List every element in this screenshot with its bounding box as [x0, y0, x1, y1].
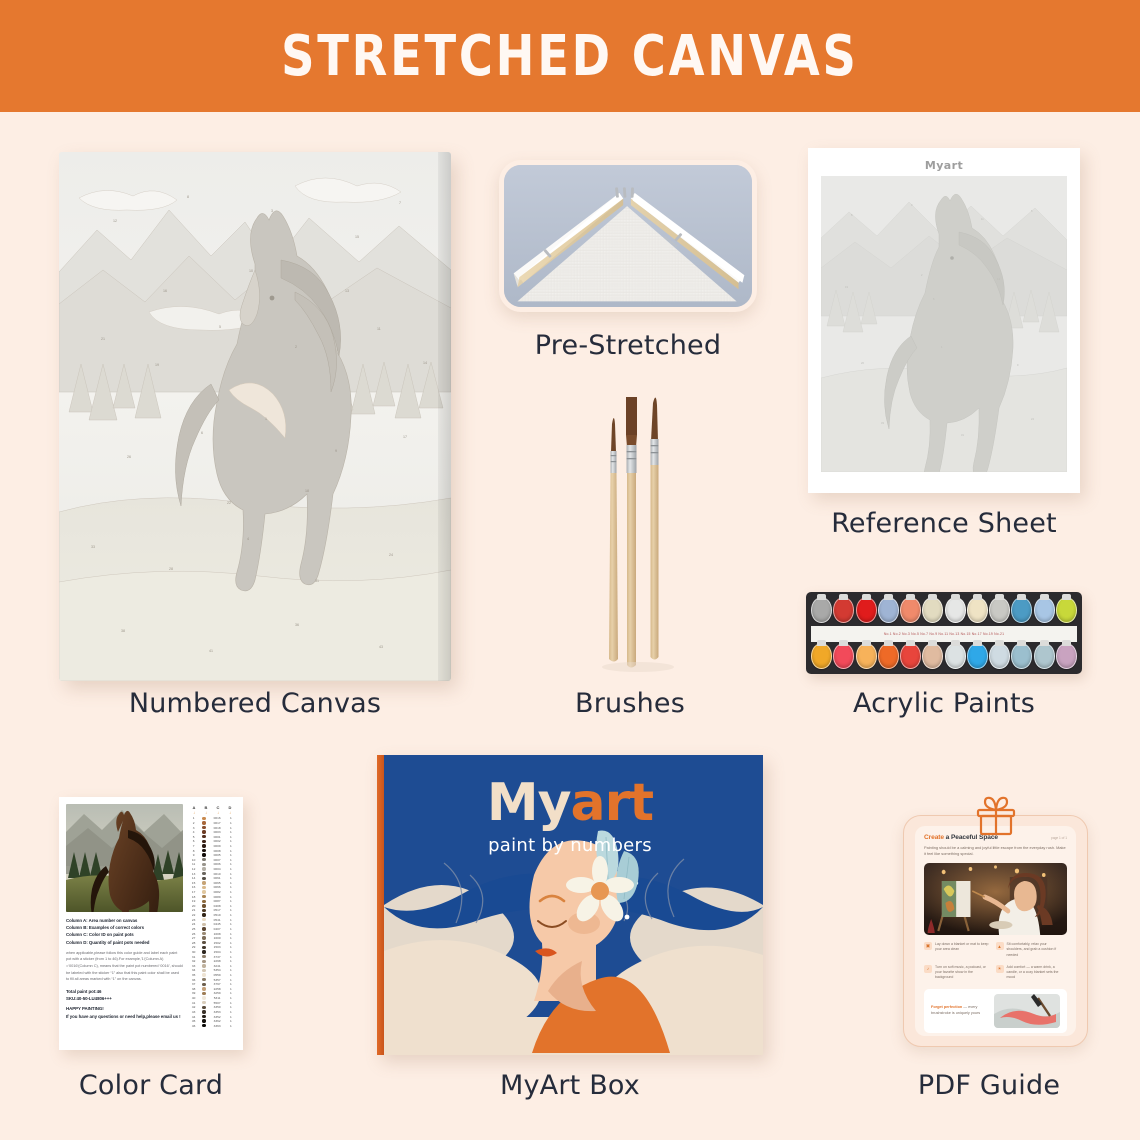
swatch-row: 100161 [188, 816, 236, 821]
swatch-area-number: 7 [190, 844, 197, 848]
pdf-tip-text: Add comfort — a warm drink, a candle, or… [1007, 965, 1064, 981]
svg-text:26: 26 [127, 455, 131, 459]
swatch-quantity: 1 [228, 941, 234, 945]
swatch-color-cell [201, 849, 206, 852]
swatch-quantity: 1 [228, 936, 234, 940]
swatch-color-cell [201, 840, 206, 843]
swatch-color-dot [202, 987, 205, 990]
swatch-color-id: 0061 [211, 876, 224, 880]
swatch-area-number: 2 [190, 821, 197, 825]
swatch-area-number: 5 [190, 835, 197, 839]
swatch-quantity: 1 [228, 945, 234, 949]
color-card-swatch-table: A B C D ↓ ↓ ↓ ↓ 100161200171300181400031… [188, 804, 236, 1044]
swatch-color-id: 0001 [211, 835, 224, 839]
swatch-color-dot [202, 844, 205, 847]
paint-pot [900, 643, 921, 669]
logo-my: My [487, 773, 571, 833]
swatch-quantity: 1 [228, 849, 234, 853]
pdf-intro-text: Painting should be a calming and joyful … [924, 845, 1067, 857]
box-tagline: paint by numbers [377, 835, 763, 856]
swatch-quantity: 1 [228, 908, 234, 912]
swatch-row: 4053111 [188, 996, 236, 1001]
swatch-color-dot [202, 1006, 205, 1009]
pdf-heading-accent: Create [924, 834, 944, 841]
swatch-area-number: 20 [190, 904, 197, 908]
swatch-area-number: 16 [190, 885, 197, 889]
swatch-color-dot [202, 960, 205, 963]
swatch-quantity: 1 [228, 1005, 234, 1009]
arrow-down-icon: ↓ [205, 810, 207, 815]
swatch-color-cell [201, 1001, 206, 1004]
swatch-color-id: 0008 [211, 849, 224, 853]
swatch-color-cell [201, 1019, 206, 1022]
swatch-area-number: 28 [190, 941, 197, 945]
swatch-quantity: 1 [228, 1024, 234, 1028]
swatch-quantity: 1 [228, 964, 234, 968]
sku-code: SKU:40-50-LU4806+++ [66, 995, 183, 1002]
swatch-color-dot [202, 936, 205, 939]
svg-text:11: 11 [377, 327, 381, 331]
page-header: STRETCHED CANVAS [0, 0, 1140, 112]
swatch-color-dot [202, 946, 205, 949]
swatch-color-id: 3737 [211, 955, 224, 959]
swatch-row: 300181 [188, 825, 236, 830]
swatch-area-number: 35 [190, 973, 197, 977]
swatch-area-number: 31 [190, 955, 197, 959]
paint-pot [811, 643, 832, 669]
swatch-color-id: 0016 [211, 816, 224, 820]
svg-text:14: 14 [423, 361, 427, 365]
swatch-color-cell [201, 955, 206, 958]
arrow-down-icon: ↓ [193, 810, 195, 815]
paint-pot [989, 597, 1010, 623]
swatch-color-cell [201, 946, 206, 949]
swatch-quantity: 1 [228, 885, 234, 889]
swatch-row: 3737971 [188, 982, 236, 987]
svg-text:1: 1 [265, 417, 267, 421]
swatch-color-dot [202, 1015, 205, 1018]
swatch-row: 4633631 [188, 1023, 236, 1028]
swatch-row: 2305411 [188, 917, 236, 922]
swatch-color-id: 1600 [211, 936, 224, 940]
legend-column-d: Column D: Quantity of paint pots needed [66, 939, 183, 946]
swatch-quantity: 1 [228, 844, 234, 848]
swatch-area-number: 11 [190, 862, 197, 866]
paint-pot [1034, 643, 1055, 669]
svg-text:24: 24 [389, 553, 393, 557]
music-note-icon: ♪ [924, 965, 932, 973]
swatch-area-number: 15 [190, 881, 197, 885]
swatch-row: 4333531 [188, 1010, 236, 1015]
swatch-color-dot [202, 978, 205, 981]
swatch-area-number: 24 [190, 922, 197, 926]
swatch-color-cell [201, 821, 206, 824]
swatch-quantity: 1 [228, 913, 234, 917]
swatch-color-cell [201, 900, 206, 903]
swatch-color-cell [201, 923, 206, 926]
swatch-color-id: 0007 [211, 858, 224, 862]
swatch-quantity: 1 [228, 899, 234, 903]
swatch-row: 1800891 [188, 894, 236, 899]
swatch-color-cell [201, 835, 206, 838]
swatch-area-number: 1 [190, 816, 197, 820]
box-logo-wordmark: Myart [377, 773, 763, 833]
swatch-color-cell [201, 1024, 206, 1027]
swatch-color-id: 0017 [211, 821, 224, 825]
swatch-color-dot [202, 890, 205, 893]
swatch-color-cell [201, 1010, 206, 1013]
swatch-color-id: 5357 [211, 978, 224, 982]
arrow-down-icon: ↓ [229, 810, 231, 815]
swatch-color-id: 3241 [211, 964, 224, 968]
swatch-area-number: 38 [190, 987, 197, 991]
svg-text:4: 4 [247, 537, 249, 541]
swatch-color-dot [202, 969, 205, 972]
swatch-color-cell [201, 867, 206, 870]
swatch-row: 1700821 [188, 890, 236, 895]
caption-numbered-canvas: Numbered Canvas [59, 688, 451, 719]
swatch-area-number: 22 [190, 913, 197, 917]
swatch-table-arrows: ↓ ↓ ↓ ↓ [188, 810, 236, 815]
swatch-color-dot [202, 821, 205, 824]
swatch-quantity: 1 [228, 982, 234, 986]
swatch-row: 1400611 [188, 876, 236, 881]
swatch-quantity: 1 [228, 862, 234, 866]
pdf-note-text: Forget perfection — every brushstroke is… [931, 1005, 988, 1016]
swatch-area-number: 13 [190, 872, 197, 876]
svg-text:7: 7 [399, 201, 401, 205]
svg-text:41: 41 [209, 649, 213, 653]
swatch-area-number: 4 [190, 830, 197, 834]
swatch-quantity: 1 [228, 876, 234, 880]
swatch-area-number: 33 [190, 964, 197, 968]
paint-pot [1011, 597, 1032, 623]
swatch-area-number: 37 [190, 982, 197, 986]
pdf-page-marker: page 1 of 1 [1051, 836, 1067, 840]
swatch-row: 1900871 [188, 899, 236, 904]
swatch-color-dot [202, 881, 205, 884]
paint-row-top [811, 597, 1077, 625]
swatch-color-dot [202, 904, 205, 907]
brushstroke-photo [994, 994, 1060, 1028]
swatch-color-id: 5354 [211, 968, 224, 972]
swatch-quantity: 1 [228, 890, 234, 894]
swatch-color-dot [202, 918, 205, 921]
gift-box-glyph [973, 796, 1019, 836]
swatch-color-cell [201, 890, 206, 893]
swatch-row: 2915031 [188, 945, 236, 950]
swatch-quantity: 1 [228, 858, 234, 862]
swatch-area-number: 45 [190, 1019, 197, 1023]
swatch-area-number: 10 [190, 858, 197, 862]
acrylic-paints-image: No.1 No.2 No.3 No.5 No.7 No.9 No.11 No.1… [806, 592, 1082, 674]
brush-set [560, 385, 700, 675]
canvas-depth-edge [438, 152, 451, 681]
swatch-row: 1500651 [188, 881, 236, 886]
paint-pot [1056, 597, 1077, 623]
swatch-color-dot [202, 1019, 205, 1022]
swatch-area-number: 32 [190, 959, 197, 963]
swatch-color-cell [201, 886, 206, 889]
swatch-quantity: 1 [228, 922, 234, 926]
svg-text:31: 31 [315, 579, 319, 583]
swatch-color-cell [201, 830, 206, 833]
swatch-row: 2616081 [188, 931, 236, 936]
swatch-color-id: 0408 [211, 904, 224, 908]
swatch-color-cell [201, 863, 206, 866]
swatch-color-id: 0003 [211, 830, 224, 834]
swatch-row: 2205191 [188, 913, 236, 918]
swatch-color-id: 3363 [211, 1024, 224, 1028]
swatch-color-id: 3350 [211, 1005, 224, 1009]
paint-pot [967, 643, 988, 669]
swatch-color-id: 0087 [211, 899, 224, 903]
swatch-quantity: 1 [228, 881, 234, 885]
pre-stretched-image: stretched [499, 160, 757, 312]
swatch-row: 2404451 [188, 922, 236, 927]
svg-text:13: 13 [345, 289, 349, 293]
swatch-color-dot [202, 1001, 205, 1004]
svg-text:18: 18 [305, 489, 309, 493]
paint-pot [967, 597, 988, 623]
swatch-row: 400031 [188, 830, 236, 835]
color-card-left-column: Column A: Area number on canvas Column B… [66, 804, 183, 1044]
swatch-color-dot [202, 830, 205, 833]
paint-row-bottom [811, 643, 1077, 671]
swatch-color-cell [201, 950, 206, 953]
swatch-color-cell [201, 844, 206, 847]
paint-pot [878, 597, 899, 623]
svg-text:5: 5 [219, 325, 221, 329]
swatch-area-number: 42 [190, 1005, 197, 1009]
svg-text:10: 10 [249, 269, 253, 273]
swatch-color-cell [201, 987, 206, 990]
swatch-color-dot [202, 941, 205, 944]
paint-pot [945, 597, 966, 623]
svg-text:9: 9 [335, 449, 337, 453]
arrow-down-icon: ↓ [217, 810, 219, 815]
woman-painting-photo [924, 863, 1067, 935]
swatch-area-number: 34 [190, 968, 197, 972]
swatch-color-cell [201, 973, 206, 976]
swatch-color-dot [202, 950, 205, 953]
swatch-quantity: 1 [228, 959, 234, 963]
swatch-color-cell [201, 877, 206, 880]
swatch-color-dot [202, 853, 205, 856]
swatch-row-list: 1001612001713001814000315000116000217000… [188, 816, 236, 1028]
svg-text:22: 22 [227, 501, 231, 505]
swatch-color-id: 0066 [211, 885, 224, 889]
paint-pot [856, 597, 877, 623]
swatch-quantity: 1 [228, 853, 234, 857]
logo-art: art [571, 773, 654, 833]
swatch-color-cell [201, 826, 206, 829]
caption-brushes: Brushes [560, 688, 700, 719]
swatch-quantity: 1 [228, 895, 234, 899]
swatch-quantity: 1 [228, 816, 234, 820]
legend-column-a: Column A: Area number on canvas [66, 917, 183, 924]
swatch-color-dot [202, 992, 205, 995]
swatch-quantity: 1 [228, 835, 234, 839]
swatch-color-cell [201, 927, 206, 930]
caption-acrylic-paints: Acrylic Paints [806, 688, 1082, 719]
swatch-color-dot [202, 886, 205, 889]
paint-pot [811, 597, 832, 623]
swatch-color-dot [202, 973, 205, 976]
pdf-note-photo [994, 994, 1060, 1028]
swatch-area-number: 9 [190, 853, 197, 857]
pdf-tip-item: ♪ Turn on soft music, a podcast, or your… [924, 965, 996, 981]
swatch-color-dot [202, 835, 205, 838]
swatch-color-id: 0559 [211, 973, 224, 977]
swatch-quantity: 1 [228, 904, 234, 908]
swatch-color-id: 5311 [211, 996, 224, 1000]
swatch-color-cell [201, 992, 206, 995]
horse-photo [66, 804, 183, 912]
swatch-quantity: 1 [228, 932, 234, 936]
color-card-legend: Column A: Area number on canvas Column B… [66, 917, 183, 946]
swatch-color-cell [201, 1006, 206, 1009]
swatch-area-number: 19 [190, 899, 197, 903]
pdf-tip-text: Turn on soft music, a podcast, or your f… [935, 965, 992, 981]
swatch-row: 4533621 [188, 1019, 236, 1024]
swatch-color-id: 3352 [211, 1015, 224, 1019]
swatch-color-dot [202, 826, 205, 829]
swatch-color-cell [201, 858, 206, 861]
paint-pot [900, 597, 921, 623]
swatch-color-id: 1502 [211, 941, 224, 945]
swatch-color-dot [202, 1024, 205, 1027]
legend-column-b: Column B: Examples of correct colors [66, 924, 183, 931]
swatch-color-id: 0445 [211, 922, 224, 926]
swatch-color-dot [202, 927, 205, 930]
swatch-area-number: 3 [190, 826, 197, 830]
paint-pot [1034, 597, 1055, 623]
swatch-area-number: 12 [190, 867, 197, 871]
reference-sheet-logo: Myart [821, 159, 1067, 176]
brushes-image [560, 385, 700, 675]
swatch-color-id: 3362 [211, 1019, 224, 1023]
swatch-color-cell [201, 964, 206, 967]
swatch-color-id: 0002 [211, 839, 224, 843]
swatch-area-number: 46 [190, 1024, 197, 1028]
swatch-quantity: 1 [228, 872, 234, 876]
swatch-area-number: 27 [190, 936, 197, 940]
swatch-color-id: 0018 [211, 826, 224, 830]
swatch-row: 700091 [188, 844, 236, 849]
swatch-row: 2716001 [188, 936, 236, 941]
swatch-color-cell [201, 996, 206, 999]
swatch-row: 200171 [188, 821, 236, 826]
swatch-color-cell [201, 895, 206, 898]
contact-text: If you have any questions or need help,p… [66, 1013, 183, 1020]
swatch-row: 2504071 [188, 927, 236, 932]
svg-text:28: 28 [169, 567, 173, 571]
swatch-area-number: 36 [190, 978, 197, 982]
svg-text:8: 8 [187, 195, 189, 199]
swatch-color-id: 5507 [211, 1001, 224, 1005]
swatch-quantity: 1 [228, 1001, 234, 1005]
mat-icon: ▣ [924, 942, 932, 950]
swatch-color-dot [202, 900, 205, 903]
swatch-color-cell [201, 969, 206, 972]
svg-text:17: 17 [403, 435, 407, 439]
svg-text:33: 33 [91, 545, 95, 549]
swatch-color-dot [202, 996, 205, 999]
paint-pot [878, 643, 899, 669]
swatch-color-cell [201, 817, 206, 820]
swatch-color-id: 0407 [211, 927, 224, 931]
swatch-quantity: 1 [228, 987, 234, 991]
swatch-quantity: 1 [228, 918, 234, 922]
swatch-row: 1300101 [188, 871, 236, 876]
swatch-row: 900051 [188, 853, 236, 858]
swatch-quantity: 1 [228, 867, 234, 871]
box-logo: Myart paint by numbers [377, 773, 763, 856]
swatch-quantity: 1 [228, 1019, 234, 1023]
swatch-color-dot [202, 909, 205, 912]
pdf-page: Create a Peaceful Space page 1 of 1 Pain… [915, 826, 1076, 1036]
swatch-area-number: 17 [190, 890, 197, 894]
swatch-row: 4433521 [188, 1014, 236, 1019]
svg-text:38: 38 [121, 629, 125, 633]
swatch-area-number: 23 [190, 918, 197, 922]
swatch-color-id: 2258 [211, 987, 224, 991]
pdf-tip-text: Sit comfortably, relax your shoulders, a… [1007, 942, 1064, 958]
swatch-color-id: 0541 [211, 918, 224, 922]
pdf-tip-text: Lay down a blanket or mat to keep your a… [935, 942, 992, 958]
caption-pre-stretched: Pre-Stretched [499, 330, 757, 361]
caption-myart-box: MyArt Box [377, 1070, 763, 1101]
color-card-photo [66, 804, 183, 912]
swatch-color-cell [201, 960, 206, 963]
swatch-quantity: 1 [228, 826, 234, 830]
svg-text:36: 36 [295, 623, 299, 627]
swatch-color-dot [202, 983, 205, 986]
reference-sheet-artwork: 8311 5192 14261 93331 246 [821, 176, 1067, 472]
paint-pot [1056, 643, 1077, 669]
svg-text:43: 43 [379, 645, 383, 649]
paint-pot [833, 643, 854, 669]
swatch-color-dot [202, 849, 205, 852]
paint-pot [922, 643, 943, 669]
swatch-row: 3505591 [188, 973, 236, 978]
swatch-color-dot [202, 817, 205, 820]
numbered-canvas-image: 1283 15721 1952 111426 619 173328 43124 … [59, 152, 451, 681]
swatch-area-number: 14 [190, 876, 197, 880]
swatch-color-dot [202, 964, 205, 967]
swatch-row: 3453541 [188, 968, 236, 973]
swatch-area-number: 39 [190, 991, 197, 995]
swatch-color-id: 0517 [211, 908, 224, 912]
reference-line-art: 8311 5192 14261 93331 246 [821, 176, 1067, 472]
swatch-color-cell [201, 909, 206, 912]
swatch-color-cell [201, 936, 206, 939]
happy-painting-text: HAPPY PAINTING! [66, 1005, 183, 1012]
swatch-row: 2815021 [188, 940, 236, 945]
reference-sheet-image: Myart 8311 5192 14261 93331 246 [808, 148, 1080, 493]
gift-icon [973, 796, 1019, 841]
svg-text:19: 19 [155, 363, 159, 367]
swatch-area-number: 44 [190, 1015, 197, 1019]
swatch-color-id: 1504 [211, 950, 224, 954]
swatch-color-id: 0006 [211, 862, 224, 866]
pdf-tip-item: ☀ Add comfort — a warm drink, a candle, … [996, 965, 1068, 981]
swatch-row: 3653571 [188, 977, 236, 982]
swatch-area-number: 26 [190, 932, 197, 936]
svg-text:12: 12 [113, 219, 117, 223]
swatch-area-number: 8 [190, 849, 197, 853]
